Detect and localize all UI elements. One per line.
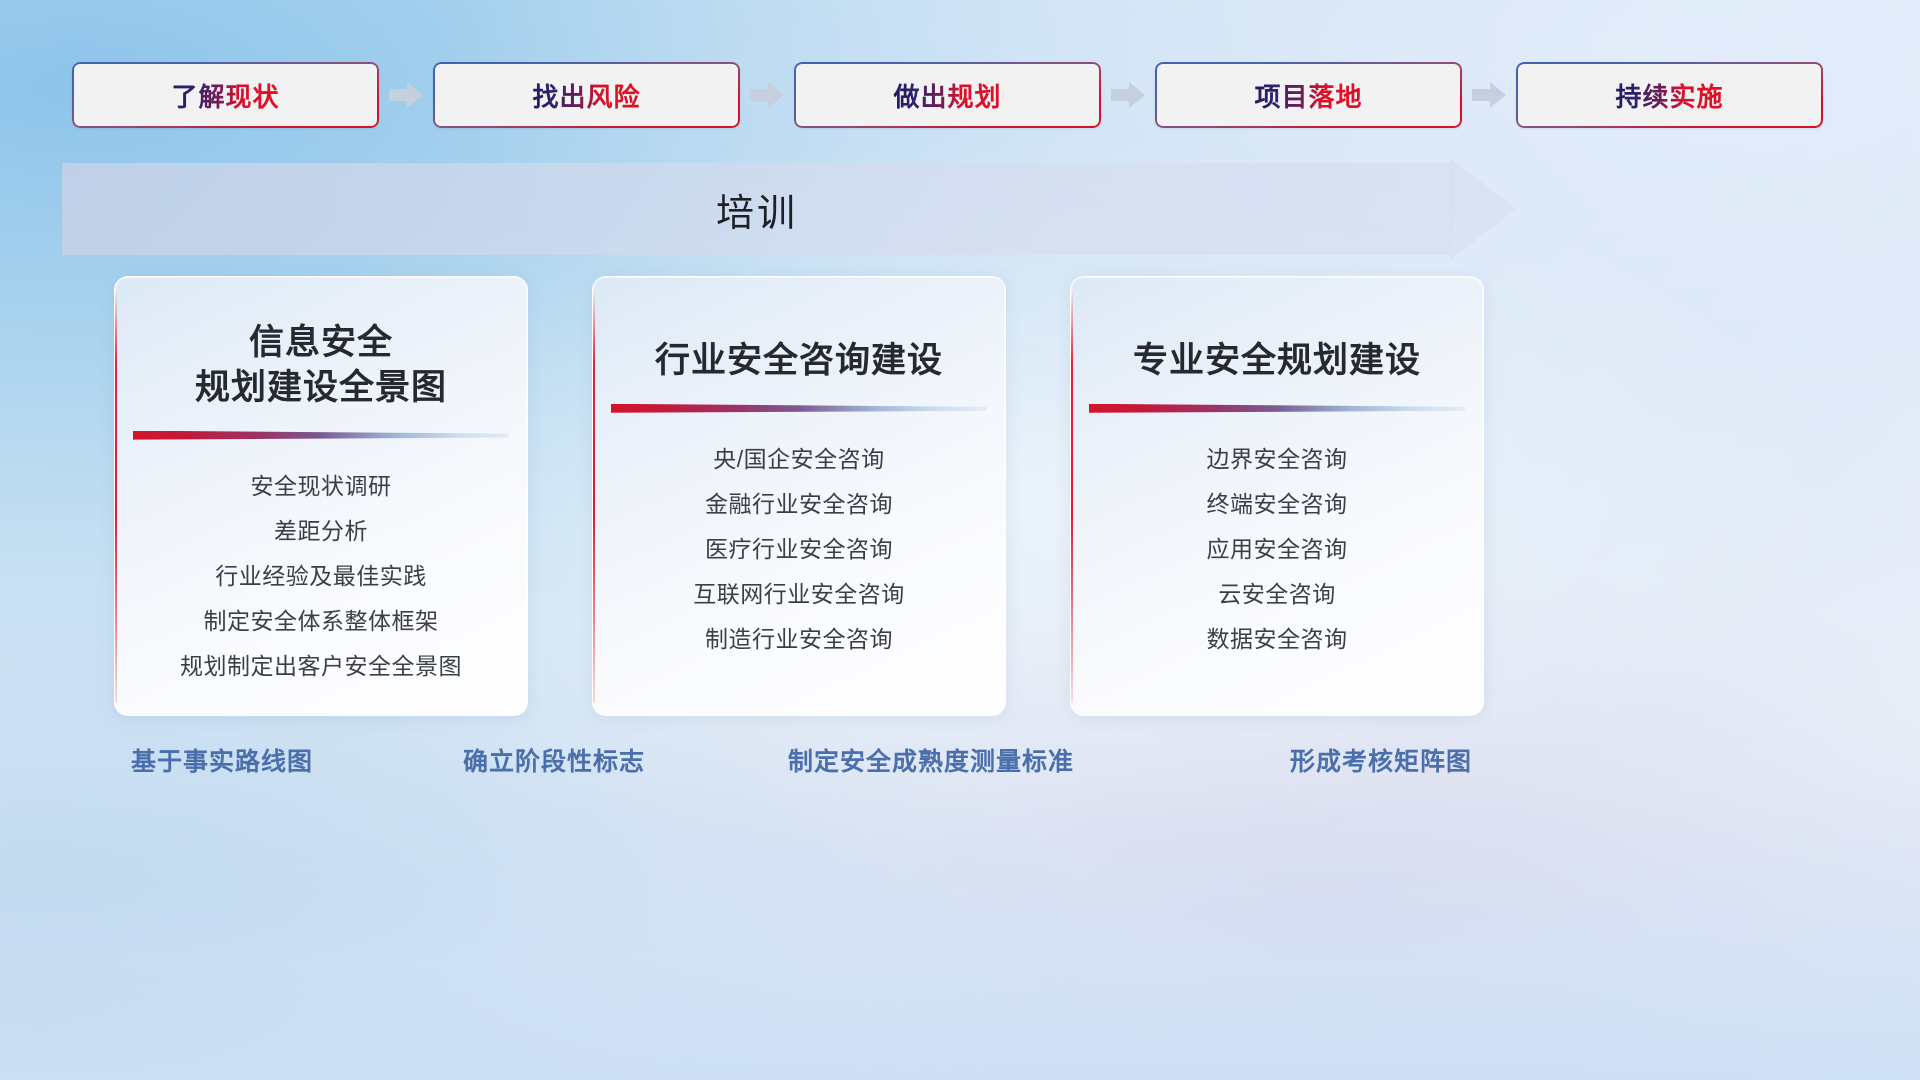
footnote-label: 确立阶段性标志 (463, 742, 645, 778)
process-flow: 了解现状 找出风险 做出规划 项目落地 持续实施 (0, 62, 1920, 128)
card-title: 专业安全规划建设 (1097, 339, 1457, 384)
process-connector-0 (379, 62, 433, 128)
process-step-3[interactable]: 项目落地 (1155, 62, 1462, 128)
arrow-right-icon (1111, 82, 1145, 108)
card-divider (1089, 404, 1465, 413)
list-item: 规划制定出客户安全全景图 (180, 646, 462, 687)
card-industry-security-consulting[interactable]: 行业安全咨询建设 央/国企安全咨询 金融行业安全咨询 医疗行业安全咨询 互联网行… (592, 276, 1006, 716)
footnote-label: 基于事实路线图 (131, 742, 313, 778)
list-item: 应用安全咨询 (1207, 529, 1348, 570)
process-connector-2 (1101, 62, 1155, 128)
card-information-security-blueprint[interactable]: 信息安全 规划建设全景图 安全现状调研 差距分析 行业经验及最佳实践 制定安全体… (114, 276, 528, 716)
footnote-label: 形成考核矩阵图 (1290, 742, 1472, 778)
process-step-label: 了解现状 (171, 77, 279, 114)
card-group: 信息安全 规划建设全景图 安全现状调研 差距分析 行业经验及最佳实践 制定安全体… (0, 276, 1920, 716)
list-item: 医疗行业安全咨询 (705, 529, 893, 570)
process-step-label: 找出风险 (532, 77, 640, 114)
card-title-line: 专业安全规划建设 (1097, 339, 1457, 384)
process-connector-3 (1462, 62, 1516, 128)
card-divider (611, 404, 987, 413)
arrow-right-icon (1472, 82, 1506, 108)
list-item: 安全现状调研 (251, 466, 392, 507)
list-item: 行业经验及最佳实践 (215, 556, 427, 597)
arrow-right-icon (389, 82, 423, 108)
footnote-label: 制定安全成熟度测量标准 (788, 742, 1074, 778)
card-professional-security-planning[interactable]: 专业安全规划建设 边界安全咨询 终端安全咨询 应用安全咨询 云安全咨询 数据安全… (1070, 276, 1484, 716)
list-item: 云安全咨询 (1218, 574, 1336, 615)
list-item: 终端安全咨询 (1207, 484, 1348, 525)
list-item: 数据安全咨询 (1207, 619, 1348, 660)
footnote-group: 基于事实路线图 确立阶段性标志 制定安全成熟度测量标准 形成考核矩阵图 (0, 742, 1920, 802)
card-divider (133, 431, 509, 440)
process-step-2[interactable]: 做出规划 (794, 62, 1101, 128)
card-title: 行业安全咨询建设 (619, 339, 979, 384)
process-step-label: 做出规划 (893, 77, 1001, 114)
card-title: 信息安全 规划建设全景图 (141, 321, 501, 411)
list-item: 金融行业安全咨询 (705, 484, 893, 525)
training-banner: 培训 (62, 163, 1514, 255)
card-title-line: 行业安全咨询建设 (619, 339, 979, 384)
card-list: 边界安全咨询 终端安全咨询 应用安全咨询 云安全咨询 数据安全咨询 (1097, 439, 1457, 660)
process-step-label: 持续实施 (1615, 77, 1723, 114)
background-bottom-fade (0, 780, 1920, 1080)
card-list: 安全现状调研 差距分析 行业经验及最佳实践 制定安全体系整体框架 规划制定出客户… (141, 466, 501, 687)
banner-title: 培训 (62, 163, 1452, 255)
list-item: 差距分析 (274, 511, 368, 552)
list-item: 边界安全咨询 (1207, 439, 1348, 480)
list-item: 互联网行业安全咨询 (693, 574, 905, 615)
process-step-1[interactable]: 找出风险 (433, 62, 740, 128)
card-list: 央/国企安全咨询 金融行业安全咨询 医疗行业安全咨询 互联网行业安全咨询 制造行… (619, 439, 979, 660)
list-item: 制造行业安全咨询 (705, 619, 893, 660)
process-connector-1 (740, 62, 794, 128)
arrow-right-icon (750, 82, 784, 108)
card-title-line: 规划建设全景图 (141, 366, 501, 411)
list-item: 制定安全体系整体框架 (204, 601, 439, 642)
banner-arrow-tip-icon (1450, 158, 1516, 260)
list-item: 央/国企安全咨询 (713, 439, 884, 480)
process-step-label: 项目落地 (1254, 77, 1362, 114)
process-step-0[interactable]: 了解现状 (72, 62, 379, 128)
process-step-4[interactable]: 持续实施 (1516, 62, 1823, 128)
card-title-line: 信息安全 (141, 321, 501, 366)
